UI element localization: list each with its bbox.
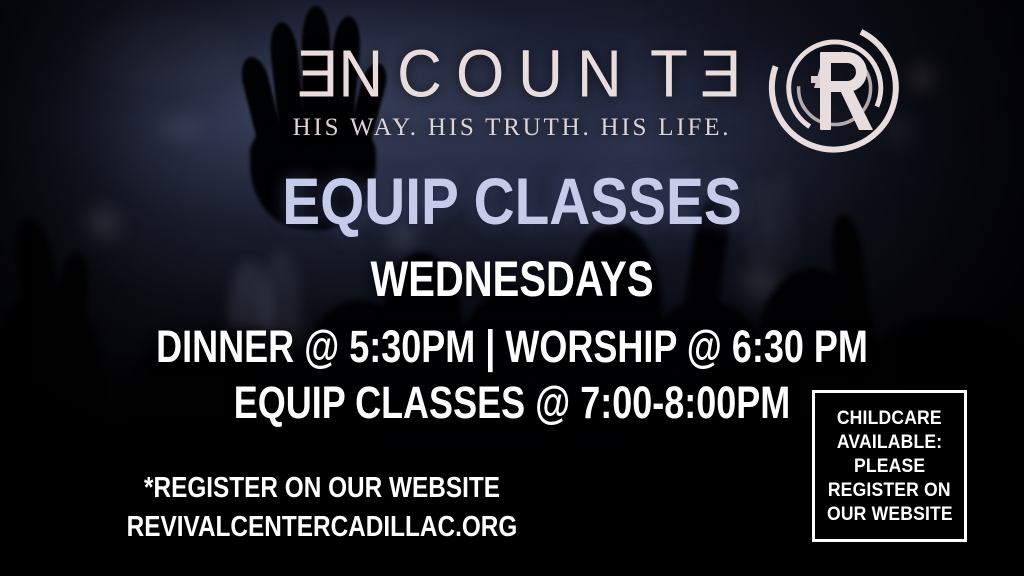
logo-letter-t: T [636,35,688,115]
logo-letter-e2: E [686,35,741,115]
logo-letter-e1: E [283,35,338,115]
register-info: *REGISTER ON OUR WEBSITE REVIVALCENTERCA… [52,472,592,544]
logo-letter-c: C [397,35,456,115]
logo-letter-u: U [518,35,577,115]
schedule-line-dinner-worship: DINNER @ 5:30PM | WORSHIP @ 6:30 PM [102,321,921,373]
childcare-line: PLEASE [854,454,925,478]
logo-letter-n2: N [577,35,636,115]
register-note: *REGISTER ON OUR WEBSITE [95,472,549,505]
childcare-line: CHILDCARE [837,406,942,430]
logo-wordmark: ENCOUNTE [283,35,741,115]
childcare-notice-box: CHILDCARE AVAILABLE: PLEASE REGISTER ON … [812,390,967,542]
childcare-line: AVAILABLE: [837,430,942,454]
weekday-subtitle: WEDNESDAYS [102,250,921,308]
website-url[interactable]: REVIVALCENTERCADILLAC.ORG [95,511,549,544]
logo-letter-n1: N [338,35,397,115]
page-title: EQUIP CLASSES [72,163,953,239]
childcare-line: REGISTER ON [828,478,951,502]
encounter-circle-r-emblem [762,16,906,160]
childcare-line: OUR WEBSITE [827,502,953,526]
logo-letter-o: O [456,35,518,115]
event-flyer: ENCOUNTE HIS WAY. HIS TRUTH. HIS LIFE. [0,0,1024,576]
schedule-line-equip-classes: EQUIP CLASSES @ 7:00-8:00PM [102,377,921,429]
